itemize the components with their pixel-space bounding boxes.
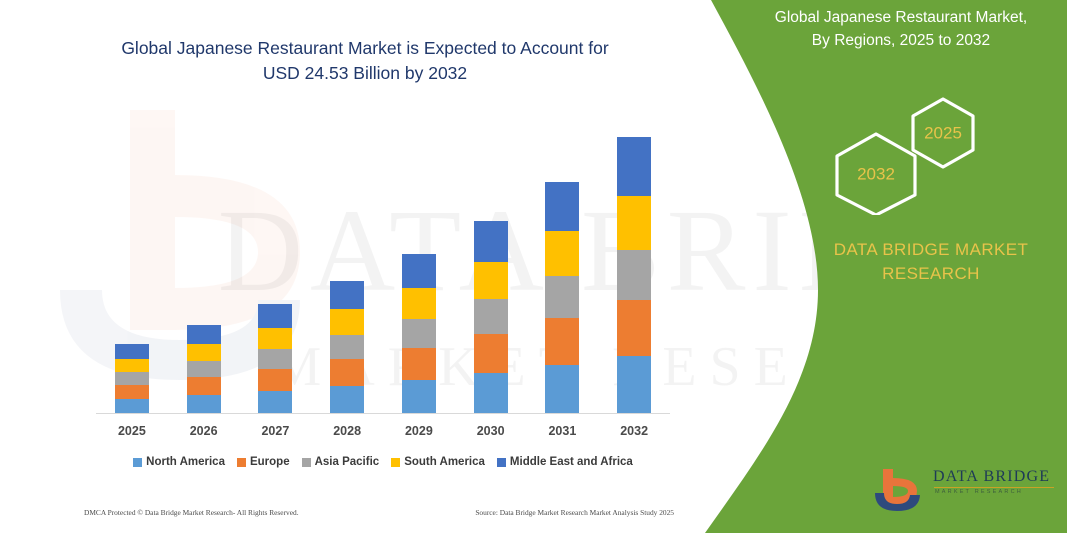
- stacked-bar: [474, 221, 508, 413]
- bar-segment-south-america: [402, 288, 436, 319]
- bar-segment-middle-east-and-africa: [115, 344, 149, 359]
- legend-item-middle-east-and-africa[interactable]: Middle East and Africa: [497, 456, 633, 468]
- footer-copyright: DMCA Protected © Data Bridge Market Rese…: [84, 508, 299, 517]
- stacked-bar: [402, 254, 436, 413]
- chart-legend: North AmericaEuropeAsia PacificSouth Ame…: [96, 456, 670, 468]
- legend-swatch-icon: [237, 458, 246, 467]
- bar-segment-asia-pacific: [474, 299, 508, 334]
- hexagon-2032-label: 2032: [857, 164, 895, 183]
- x-axis-label-2030: 2030: [455, 424, 527, 438]
- bar-segment-asia-pacific: [330, 335, 364, 359]
- bar-segment-south-america: [115, 359, 149, 372]
- hexagon-2025-label: 2025: [924, 123, 962, 142]
- bar-segment-south-america: [617, 196, 651, 250]
- legend-item-north-america[interactable]: North America: [133, 456, 225, 468]
- x-axis-label-2026: 2026: [168, 424, 240, 438]
- logo-tagline: MARKET RESEARCH: [935, 489, 1023, 495]
- bar-column-2027: [240, 120, 312, 413]
- x-axis-label-2031: 2031: [527, 424, 599, 438]
- bar-segment-middle-east-and-africa: [402, 254, 436, 288]
- bar-segment-north-america: [617, 356, 651, 413]
- bar-segment-asia-pacific: [617, 250, 651, 300]
- bar-segment-europe: [402, 348, 436, 380]
- stacked-bar: [545, 182, 579, 413]
- bar-column-2032: [598, 120, 670, 413]
- legend-label: South America: [404, 456, 485, 468]
- x-axis-label-2025: 2025: [96, 424, 168, 438]
- bar-segment-south-america: [474, 262, 508, 299]
- bar-segment-south-america: [258, 328, 292, 349]
- x-axis-line: [96, 413, 670, 414]
- chart-title-line-1: Global Japanese Restaurant Market is Exp…: [60, 36, 670, 61]
- bar-column-2029: [383, 120, 455, 413]
- legend-label: Middle East and Africa: [510, 456, 633, 468]
- legend-item-europe[interactable]: Europe: [237, 456, 290, 468]
- bar-segment-south-america: [330, 309, 364, 335]
- hexagon-group: 2025 2032: [820, 95, 1000, 215]
- bar-segment-middle-east-and-africa: [545, 182, 579, 231]
- bar-segment-middle-east-and-africa: [330, 281, 364, 309]
- infographic-canvas: DATA BRIDGE MARKET RESEARCH Global Japan…: [0, 0, 1067, 533]
- bar-column-2028: [311, 120, 383, 413]
- bar-segment-europe: [545, 318, 579, 365]
- x-axis-label-2032: 2032: [598, 424, 670, 438]
- bar-segment-north-america: [545, 365, 579, 413]
- bar-segment-north-america: [330, 386, 364, 413]
- bar-segment-middle-east-and-africa: [617, 137, 651, 196]
- bar-segment-south-america: [545, 231, 579, 276]
- legend-item-south-america[interactable]: South America: [391, 456, 485, 468]
- stacked-bar-chart: [96, 120, 670, 413]
- logo-wordmark: DATA BRIDGE: [933, 468, 1050, 486]
- bar-column-2030: [455, 120, 527, 413]
- bar-segment-asia-pacific: [258, 349, 292, 369]
- legend-label: North America: [146, 456, 225, 468]
- bar-segment-asia-pacific: [402, 319, 436, 348]
- stacked-bar: [617, 137, 651, 413]
- footer: DMCA Protected © Data Bridge Market Rese…: [84, 508, 674, 517]
- data-bridge-logo-mark: [873, 465, 931, 515]
- bar-segment-middle-east-and-africa: [474, 221, 508, 262]
- brand-name-line-1: DATA BRIDGE MARKET: [782, 238, 1067, 262]
- stacked-bar: [258, 304, 292, 413]
- bar-segment-asia-pacific: [115, 372, 149, 385]
- bar-segment-europe: [258, 369, 292, 391]
- bar-segment-north-america: [258, 391, 292, 413]
- brand-name: DATA BRIDGE MARKET RESEARCH: [782, 238, 1067, 286]
- bar-segment-europe: [330, 359, 364, 386]
- bar-segment-europe: [115, 385, 149, 399]
- bar-segment-middle-east-and-africa: [187, 325, 221, 344]
- footer-source: Source: Data Bridge Market Research Mark…: [475, 508, 674, 517]
- bar-column-2031: [527, 120, 599, 413]
- brand-name-line-2: RESEARCH: [782, 262, 1067, 286]
- bar-segment-europe: [617, 300, 651, 356]
- panel-title-line-1: Global Japanese Restaurant Market,: [742, 6, 1060, 29]
- legend-swatch-icon: [302, 458, 311, 467]
- chart-title-line-2: USD 24.53 Billion by 2032: [60, 61, 670, 86]
- x-axis-labels: 20252026202720282029203020312032: [96, 424, 670, 438]
- legend-label: Asia Pacific: [315, 456, 380, 468]
- bar-segment-middle-east-and-africa: [258, 304, 292, 328]
- stacked-bar: [187, 325, 221, 413]
- legend-item-asia-pacific[interactable]: Asia Pacific: [302, 456, 380, 468]
- stacked-bar: [115, 344, 149, 413]
- legend-label: Europe: [250, 456, 290, 468]
- panel-title: Global Japanese Restaurant Market, By Re…: [742, 6, 1060, 52]
- x-axis-label-2027: 2027: [240, 424, 312, 438]
- chart-title: Global Japanese Restaurant Market is Exp…: [60, 36, 670, 86]
- bar-segment-asia-pacific: [545, 276, 579, 318]
- bar-segment-europe: [474, 334, 508, 373]
- bar-segment-south-america: [187, 344, 221, 361]
- bar-segment-north-america: [187, 395, 221, 413]
- bar-segment-asia-pacific: [187, 361, 221, 377]
- legend-swatch-icon: [497, 458, 506, 467]
- x-axis-label-2028: 2028: [311, 424, 383, 438]
- stacked-bar: [330, 281, 364, 413]
- legend-swatch-icon: [391, 458, 400, 467]
- logo-divider: [934, 487, 1054, 488]
- data-bridge-logo: DATA BRIDGE MARKET RESEARCH: [873, 462, 1063, 518]
- bar-segment-north-america: [474, 373, 508, 413]
- bar-segment-north-america: [402, 380, 436, 413]
- bar-segment-north-america: [115, 399, 149, 413]
- bar-segment-europe: [187, 377, 221, 395]
- panel-title-line-2: By Regions, 2025 to 2032: [742, 29, 1060, 52]
- x-axis-label-2029: 2029: [383, 424, 455, 438]
- bar-column-2026: [168, 120, 240, 413]
- legend-swatch-icon: [133, 458, 142, 467]
- bar-column-2025: [96, 120, 168, 413]
